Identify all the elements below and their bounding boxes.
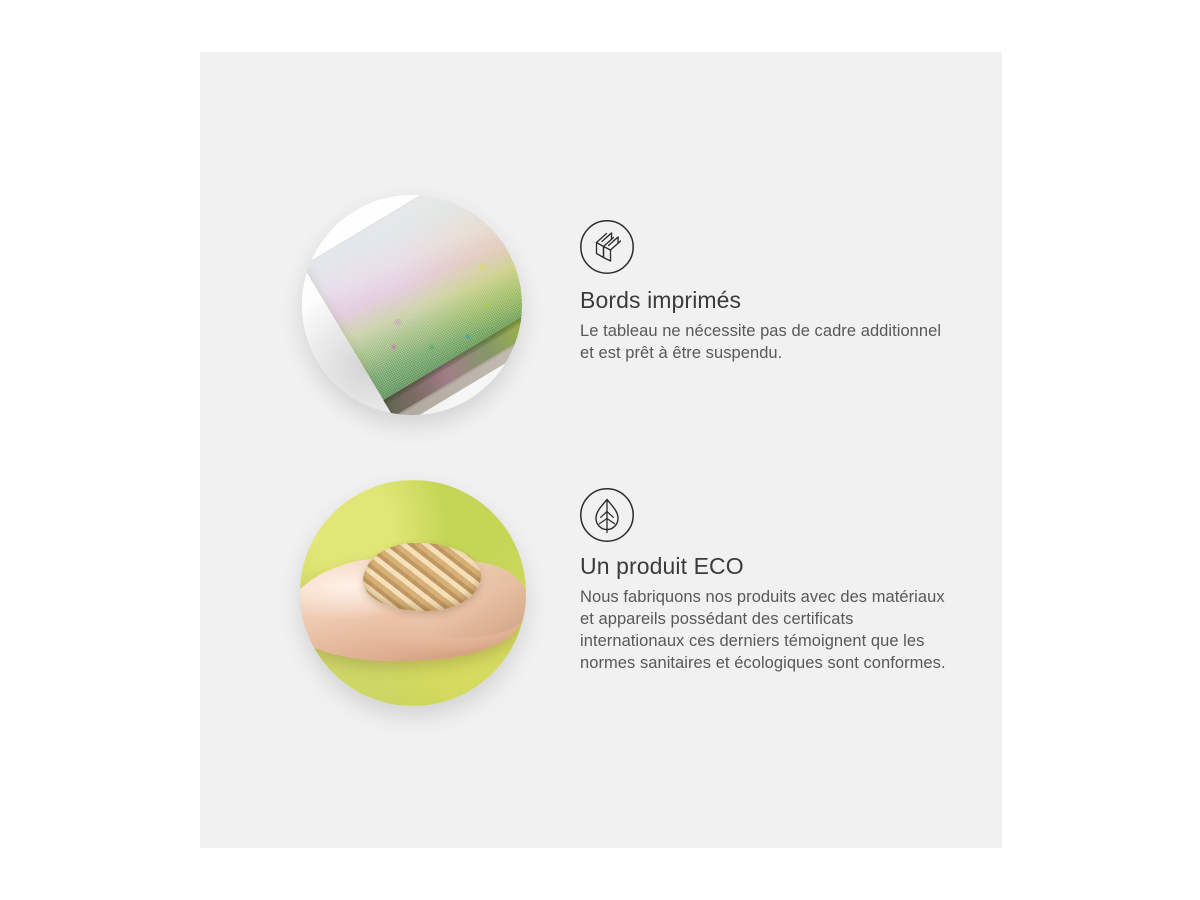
feature-description: Le tableau ne nécessite pas de cadre add… (580, 320, 952, 364)
feature-description: Nous fabriquons nos produits avec des ma… (580, 586, 952, 674)
product-feature-panel: Bords imprimés Le tableau ne nécessite p… (200, 52, 1002, 848)
canvas-print-corner-photo (302, 195, 522, 415)
hands-holding-wood-chips-photo (300, 480, 526, 706)
feature-text-eco-product: Un produit ECO Nous fabriquons nos produ… (580, 552, 952, 674)
wrapped-canvas-edge-icon (579, 219, 635, 275)
feature-text-printed-edges: Bords imprimés Le tableau ne nécessite p… (580, 286, 952, 364)
feature-title: Un produit ECO (580, 552, 952, 580)
eco-wood-chips (363, 543, 481, 611)
screenshot-stage: Bords imprimés Le tableau ne nécessite p… (0, 0, 1200, 900)
feature-title: Bords imprimés (580, 286, 952, 314)
leaf-icon (579, 487, 635, 543)
